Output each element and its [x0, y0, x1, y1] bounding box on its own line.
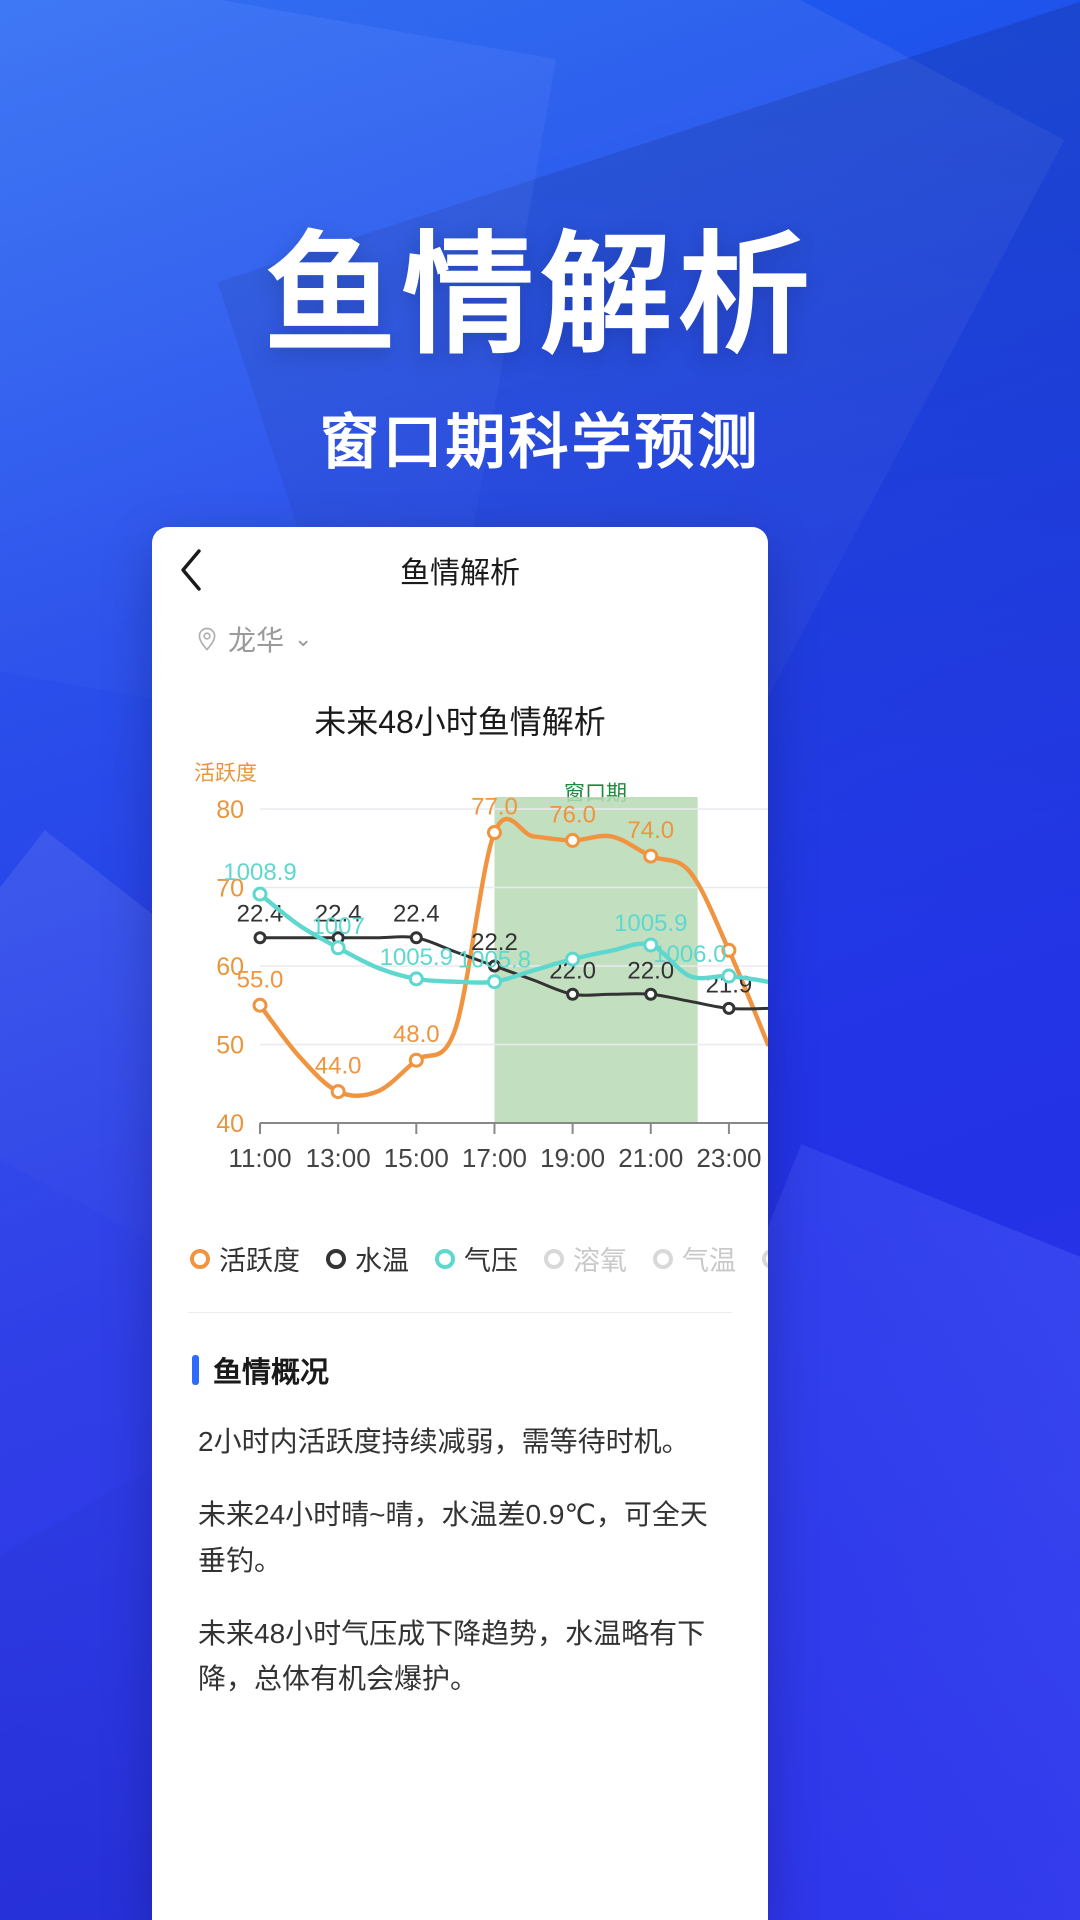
app-navbar: 鱼情解析	[152, 527, 768, 613]
data-label: 1008.9	[223, 859, 296, 886]
data-point	[488, 976, 500, 988]
data-label: 48.0	[393, 1021, 440, 1048]
summary-header: 鱼情概况	[152, 1313, 768, 1391]
data-label: 1007	[311, 913, 364, 940]
x-tick-label: 17:00	[462, 1143, 527, 1173]
data-point	[724, 1003, 734, 1013]
data-point	[488, 827, 500, 839]
legend-item-4[interactable]: 气温	[653, 1239, 736, 1278]
legend-dot-icon	[762, 1249, 768, 1269]
legend-label: 气压	[464, 1239, 518, 1278]
legend-dot-icon	[653, 1249, 673, 1269]
data-point	[332, 1086, 344, 1098]
summary-line-0: 2小时内活跃度持续减弱，需等待时机。	[198, 1419, 734, 1464]
data-point	[332, 942, 344, 954]
fishing-chart[interactable]: 活跃度 窗口期 405060708011:0013:0015:0017:0019…	[152, 783, 768, 1203]
legend-item-5[interactable]: 湿度	[762, 1239, 768, 1278]
location-pin-icon	[194, 626, 220, 652]
data-point	[410, 1054, 422, 1066]
data-point	[568, 989, 578, 999]
legend-dot-icon	[326, 1249, 346, 1269]
legend-item-2[interactable]: 气压	[435, 1239, 518, 1278]
legend-label: 气温	[682, 1239, 736, 1278]
data-point	[646, 989, 656, 999]
data-point	[255, 933, 265, 943]
y-tick-label: 80	[216, 796, 244, 824]
poster-subtitle: 窗口期科学预测	[0, 394, 1080, 481]
data-point	[567, 834, 579, 846]
data-point	[645, 850, 657, 862]
legend-item-0[interactable]: 活跃度	[190, 1239, 300, 1278]
data-point	[411, 933, 421, 943]
chevron-left-icon	[178, 548, 204, 592]
data-label: 76.0	[549, 801, 596, 828]
x-tick-label: 21:00	[618, 1143, 683, 1173]
legend-dot-icon	[435, 1249, 455, 1269]
data-label: 1005.9	[614, 910, 687, 937]
x-tick-label: 23:00	[696, 1143, 761, 1173]
legend-item-3[interactable]: 溶氧	[544, 1239, 627, 1278]
data-label: 1005.8	[458, 947, 531, 974]
summary-line-1: 未来24小时晴~晴，水温差0.9℃，可全天垂钓。	[198, 1492, 734, 1583]
x-tick-label: 13:00	[306, 1143, 371, 1173]
location-name: 龙华	[228, 619, 284, 659]
page-title: 鱼情解析	[152, 548, 768, 592]
data-label: 44.0	[315, 1053, 362, 1080]
data-point	[723, 970, 735, 982]
data-label: 1005.9	[380, 944, 453, 971]
summary-title: 鱼情概况	[213, 1349, 329, 1391]
legend-item-1[interactable]: 水温	[326, 1239, 409, 1278]
data-label: 1006.0	[653, 941, 726, 968]
legend-dot-icon	[190, 1249, 210, 1269]
section-accent-bar	[192, 1355, 199, 1385]
legend-label: 溶氧	[573, 1239, 627, 1278]
legend-label: 活跃度	[219, 1239, 300, 1278]
data-point	[567, 953, 579, 965]
data-label: 55.0	[237, 966, 284, 993]
data-point	[254, 999, 266, 1011]
summary-line-2: 未来48小时气压成下降趋势，水温略有下降，总体有机会爆护。	[198, 1611, 734, 1702]
chart-svg: 405060708011:0013:0015:0017:0019:0021:00…	[152, 783, 768, 1203]
data-point	[410, 973, 422, 985]
data-label: 22.4	[393, 901, 440, 928]
back-button[interactable]	[152, 527, 230, 613]
chart-legend[interactable]: 活跃度水温气压溶氧气温湿度	[152, 1239, 768, 1278]
data-label: 74.0	[627, 817, 674, 844]
data-label: 77.0	[471, 794, 518, 821]
data-point	[254, 888, 266, 900]
y-tick-label: 50	[216, 1032, 244, 1060]
x-tick-label: 19:00	[540, 1143, 605, 1173]
x-tick-label: 15:00	[384, 1143, 449, 1173]
y-tick-label: 40	[216, 1110, 244, 1138]
poster-hero: 鱼情解析 窗口期科学预测	[0, 225, 1080, 481]
location-selector[interactable]: 龙华 ⌄	[152, 613, 768, 659]
chart-heading: 未来48小时鱼情解析	[152, 697, 768, 743]
legend-label: 水温	[355, 1239, 409, 1278]
poster-title: 鱼情解析	[0, 225, 1080, 368]
x-tick-label: 11:00	[228, 1143, 291, 1173]
legend-dot-icon	[544, 1249, 564, 1269]
summary-body: 2小时内活跃度持续减弱，需等待时机。未来24小时晴~晴，水温差0.9℃，可全天垂…	[152, 1419, 768, 1702]
app-screen-card: 鱼情解析 龙华 ⌄ 未来48小时鱼情解析 活跃度 窗口期 40506070801…	[152, 527, 768, 1920]
chevron-down-icon: ⌄	[294, 628, 312, 650]
